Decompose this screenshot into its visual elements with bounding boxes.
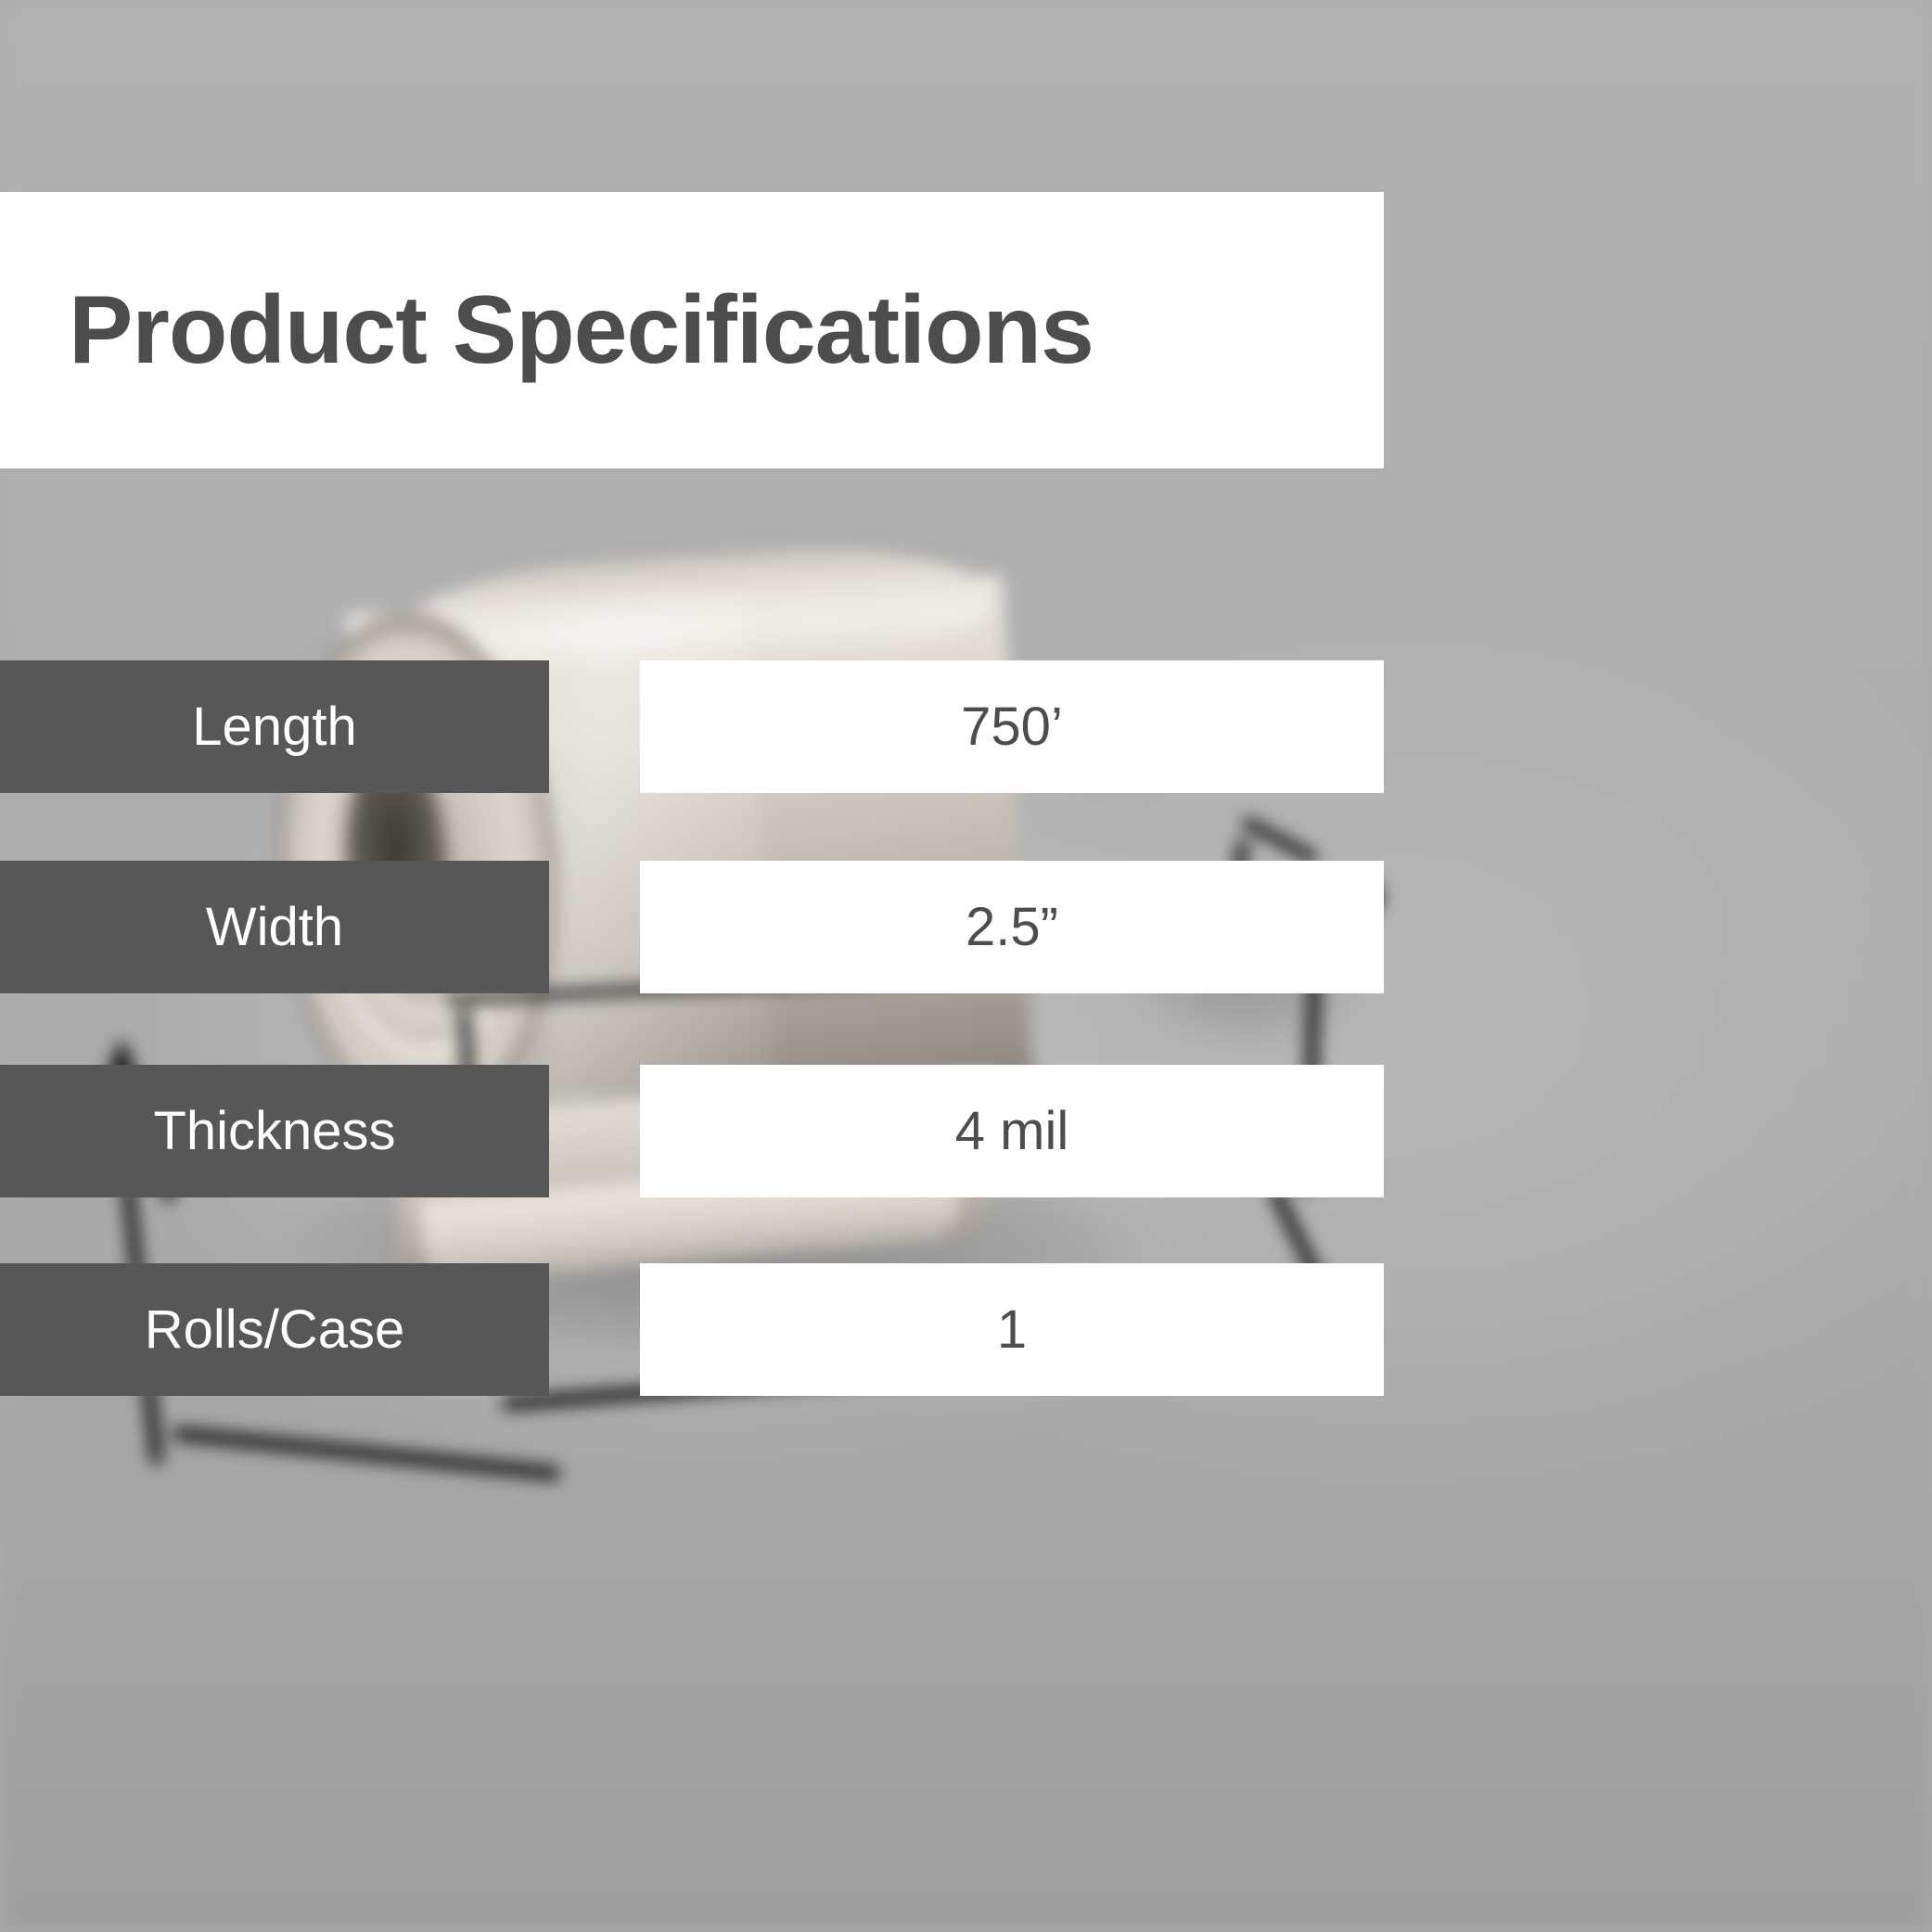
spec-label-cell: Thickness bbox=[0, 1065, 549, 1197]
product-spec-graphic: Product Specifications Length 750’ Width… bbox=[0, 0, 1932, 1932]
spec-row: Length 750’ bbox=[0, 660, 1384, 793]
spec-value-cell: 750’ bbox=[640, 660, 1384, 793]
spec-label-cell: Length bbox=[0, 660, 549, 793]
spec-value-text: 750’ bbox=[961, 700, 1063, 754]
page-title: Product Specifications bbox=[0, 282, 1094, 378]
spec-label-cell: Width bbox=[0, 861, 549, 993]
spec-row: Width 2.5” bbox=[0, 861, 1384, 993]
spec-label-text: Rolls/Case bbox=[145, 1303, 404, 1357]
spec-value-text: 1 bbox=[997, 1303, 1027, 1357]
spec-label-text: Length bbox=[192, 700, 356, 754]
spec-value-cell: 1 bbox=[640, 1263, 1384, 1396]
spec-label-text: Thickness bbox=[153, 1105, 395, 1158]
title-banner: Product Specifications bbox=[0, 192, 1384, 468]
spec-row: Thickness 4 mil bbox=[0, 1065, 1384, 1197]
spec-value-cell: 2.5” bbox=[640, 861, 1384, 993]
spec-label-cell: Rolls/Case bbox=[0, 1263, 549, 1396]
spec-overlay: Product Specifications Length 750’ Width… bbox=[0, 0, 1932, 1932]
spec-row: Rolls/Case 1 bbox=[0, 1263, 1384, 1396]
spec-value-cell: 4 mil bbox=[640, 1065, 1384, 1197]
spec-value-text: 2.5” bbox=[966, 901, 1058, 954]
spec-label-text: Width bbox=[206, 901, 343, 954]
spec-value-text: 4 mil bbox=[955, 1105, 1068, 1158]
